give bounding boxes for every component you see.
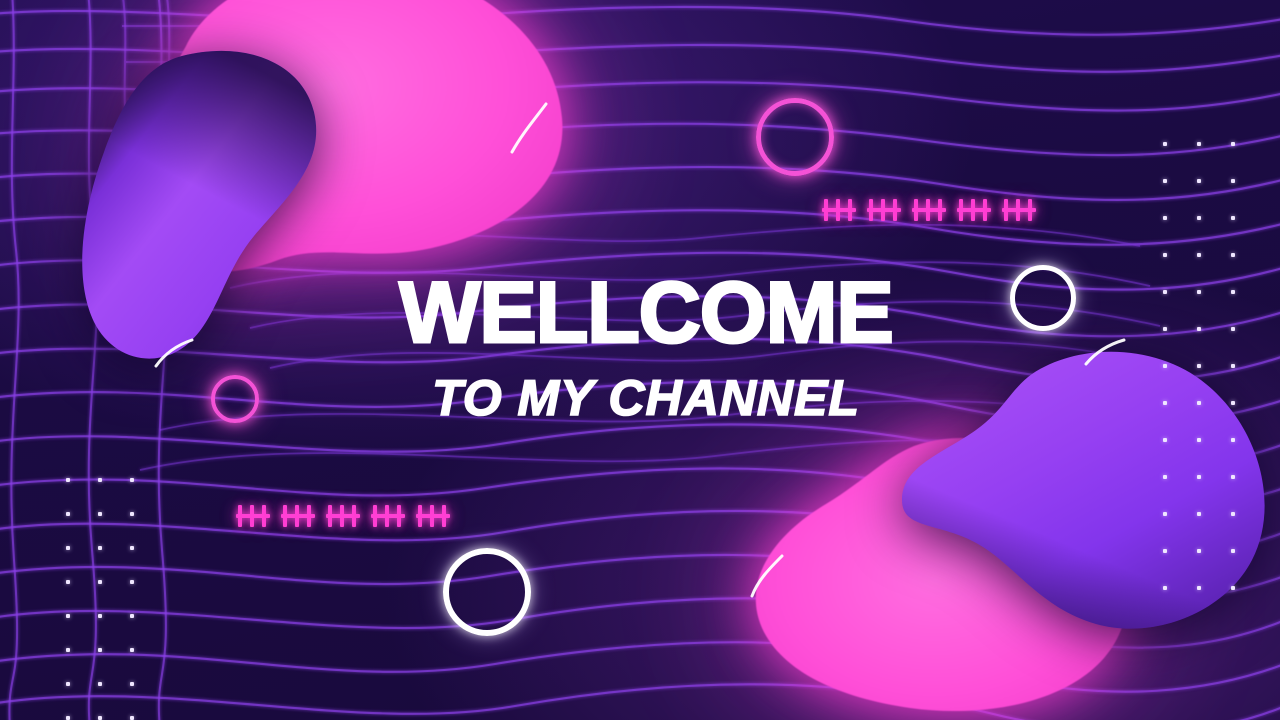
tally-group (326, 505, 360, 527)
grid-dot (1163, 401, 1167, 405)
grid-dot (1163, 512, 1167, 516)
grid-dot (1231, 549, 1235, 553)
grid-dot (1163, 253, 1167, 257)
grid-dot (1197, 401, 1201, 405)
grid-dot (1231, 142, 1235, 146)
grid-dot (1231, 364, 1235, 368)
grid-dot (1197, 216, 1201, 220)
grid-dot (1197, 179, 1201, 183)
grid-dot (1197, 475, 1201, 479)
grid-dot (1163, 142, 1167, 146)
grid-dot (98, 546, 102, 550)
grid-dot (66, 512, 70, 516)
grid-dot (66, 682, 70, 686)
tally-marks-bottom-left (236, 505, 450, 527)
grid-dot (66, 716, 70, 720)
grid-dot (1197, 438, 1201, 442)
grid-dot (98, 478, 102, 482)
grid-dot (1197, 512, 1201, 516)
tally-group (416, 505, 450, 527)
tally-group (1002, 199, 1036, 221)
dot-grid-left (66, 478, 134, 720)
grid-dot (98, 716, 102, 720)
dot-grid-right (1163, 142, 1235, 590)
tally-group (236, 505, 270, 527)
grid-dot (1197, 253, 1201, 257)
grid-dot (1231, 475, 1235, 479)
swoosh-mid-left-icon (152, 336, 196, 370)
tally-marks-top-right (822, 199, 1036, 221)
grid-dot (98, 682, 102, 686)
page-subtitle: TO MY CHANNEL (326, 373, 966, 423)
grid-dot (1163, 179, 1167, 183)
grid-dot (130, 546, 134, 550)
grid-dot (1163, 364, 1167, 368)
swoosh-top-left-icon (508, 100, 554, 160)
grid-dot (1163, 216, 1167, 220)
grid-dot (66, 546, 70, 550)
grid-dot (1231, 253, 1235, 257)
grid-dot (1197, 142, 1201, 146)
grid-dot (66, 478, 70, 482)
page-title: WELLCOME (326, 272, 966, 355)
grid-dot (130, 716, 134, 720)
grid-dot (66, 614, 70, 618)
grid-dot (98, 648, 102, 652)
grid-dot (130, 648, 134, 652)
grid-dot (1163, 475, 1167, 479)
grid-dot (98, 580, 102, 584)
tally-group (281, 505, 315, 527)
grid-dot (1231, 290, 1235, 294)
grid-dot (130, 682, 134, 686)
tally-group (371, 505, 405, 527)
grid-dot (130, 580, 134, 584)
grid-dot (1231, 438, 1235, 442)
tally-group (912, 199, 946, 221)
swoosh-bottom-right-icon (748, 552, 790, 600)
grid-dot (1231, 586, 1235, 590)
grid-dot (1231, 179, 1235, 183)
banner-canvas: WELLCOME TO MY CHANNEL (0, 0, 1280, 720)
grid-dot (66, 580, 70, 584)
grid-dot (98, 614, 102, 618)
grid-dot (1231, 327, 1235, 331)
grid-dot (66, 648, 70, 652)
grid-dot (1197, 586, 1201, 590)
grid-dot (130, 478, 134, 482)
grid-dot (1197, 290, 1201, 294)
ring-pink-top-icon (756, 98, 834, 176)
grid-dot (1197, 327, 1201, 331)
swoosh-top-right-icon (1082, 336, 1128, 368)
ring-white-bottom-icon (443, 548, 531, 636)
headline-block: WELLCOME TO MY CHANNEL (326, 272, 966, 423)
grid-dot (1197, 549, 1201, 553)
grid-dot (1197, 364, 1201, 368)
grid-dot (1231, 216, 1235, 220)
grid-dot (1163, 290, 1167, 294)
tally-group (867, 199, 901, 221)
grid-dot (1163, 586, 1167, 590)
grid-dot (1231, 401, 1235, 405)
grid-dot (1163, 438, 1167, 442)
grid-dot (130, 512, 134, 516)
grid-dot (1163, 327, 1167, 331)
grid-dot (1231, 512, 1235, 516)
grid-dot (130, 614, 134, 618)
ring-white-right-icon (1010, 265, 1076, 331)
grid-dot (1163, 549, 1167, 553)
ring-pink-left-icon (211, 375, 259, 423)
tally-group (957, 199, 991, 221)
tally-group (822, 199, 856, 221)
grid-dot (98, 512, 102, 516)
